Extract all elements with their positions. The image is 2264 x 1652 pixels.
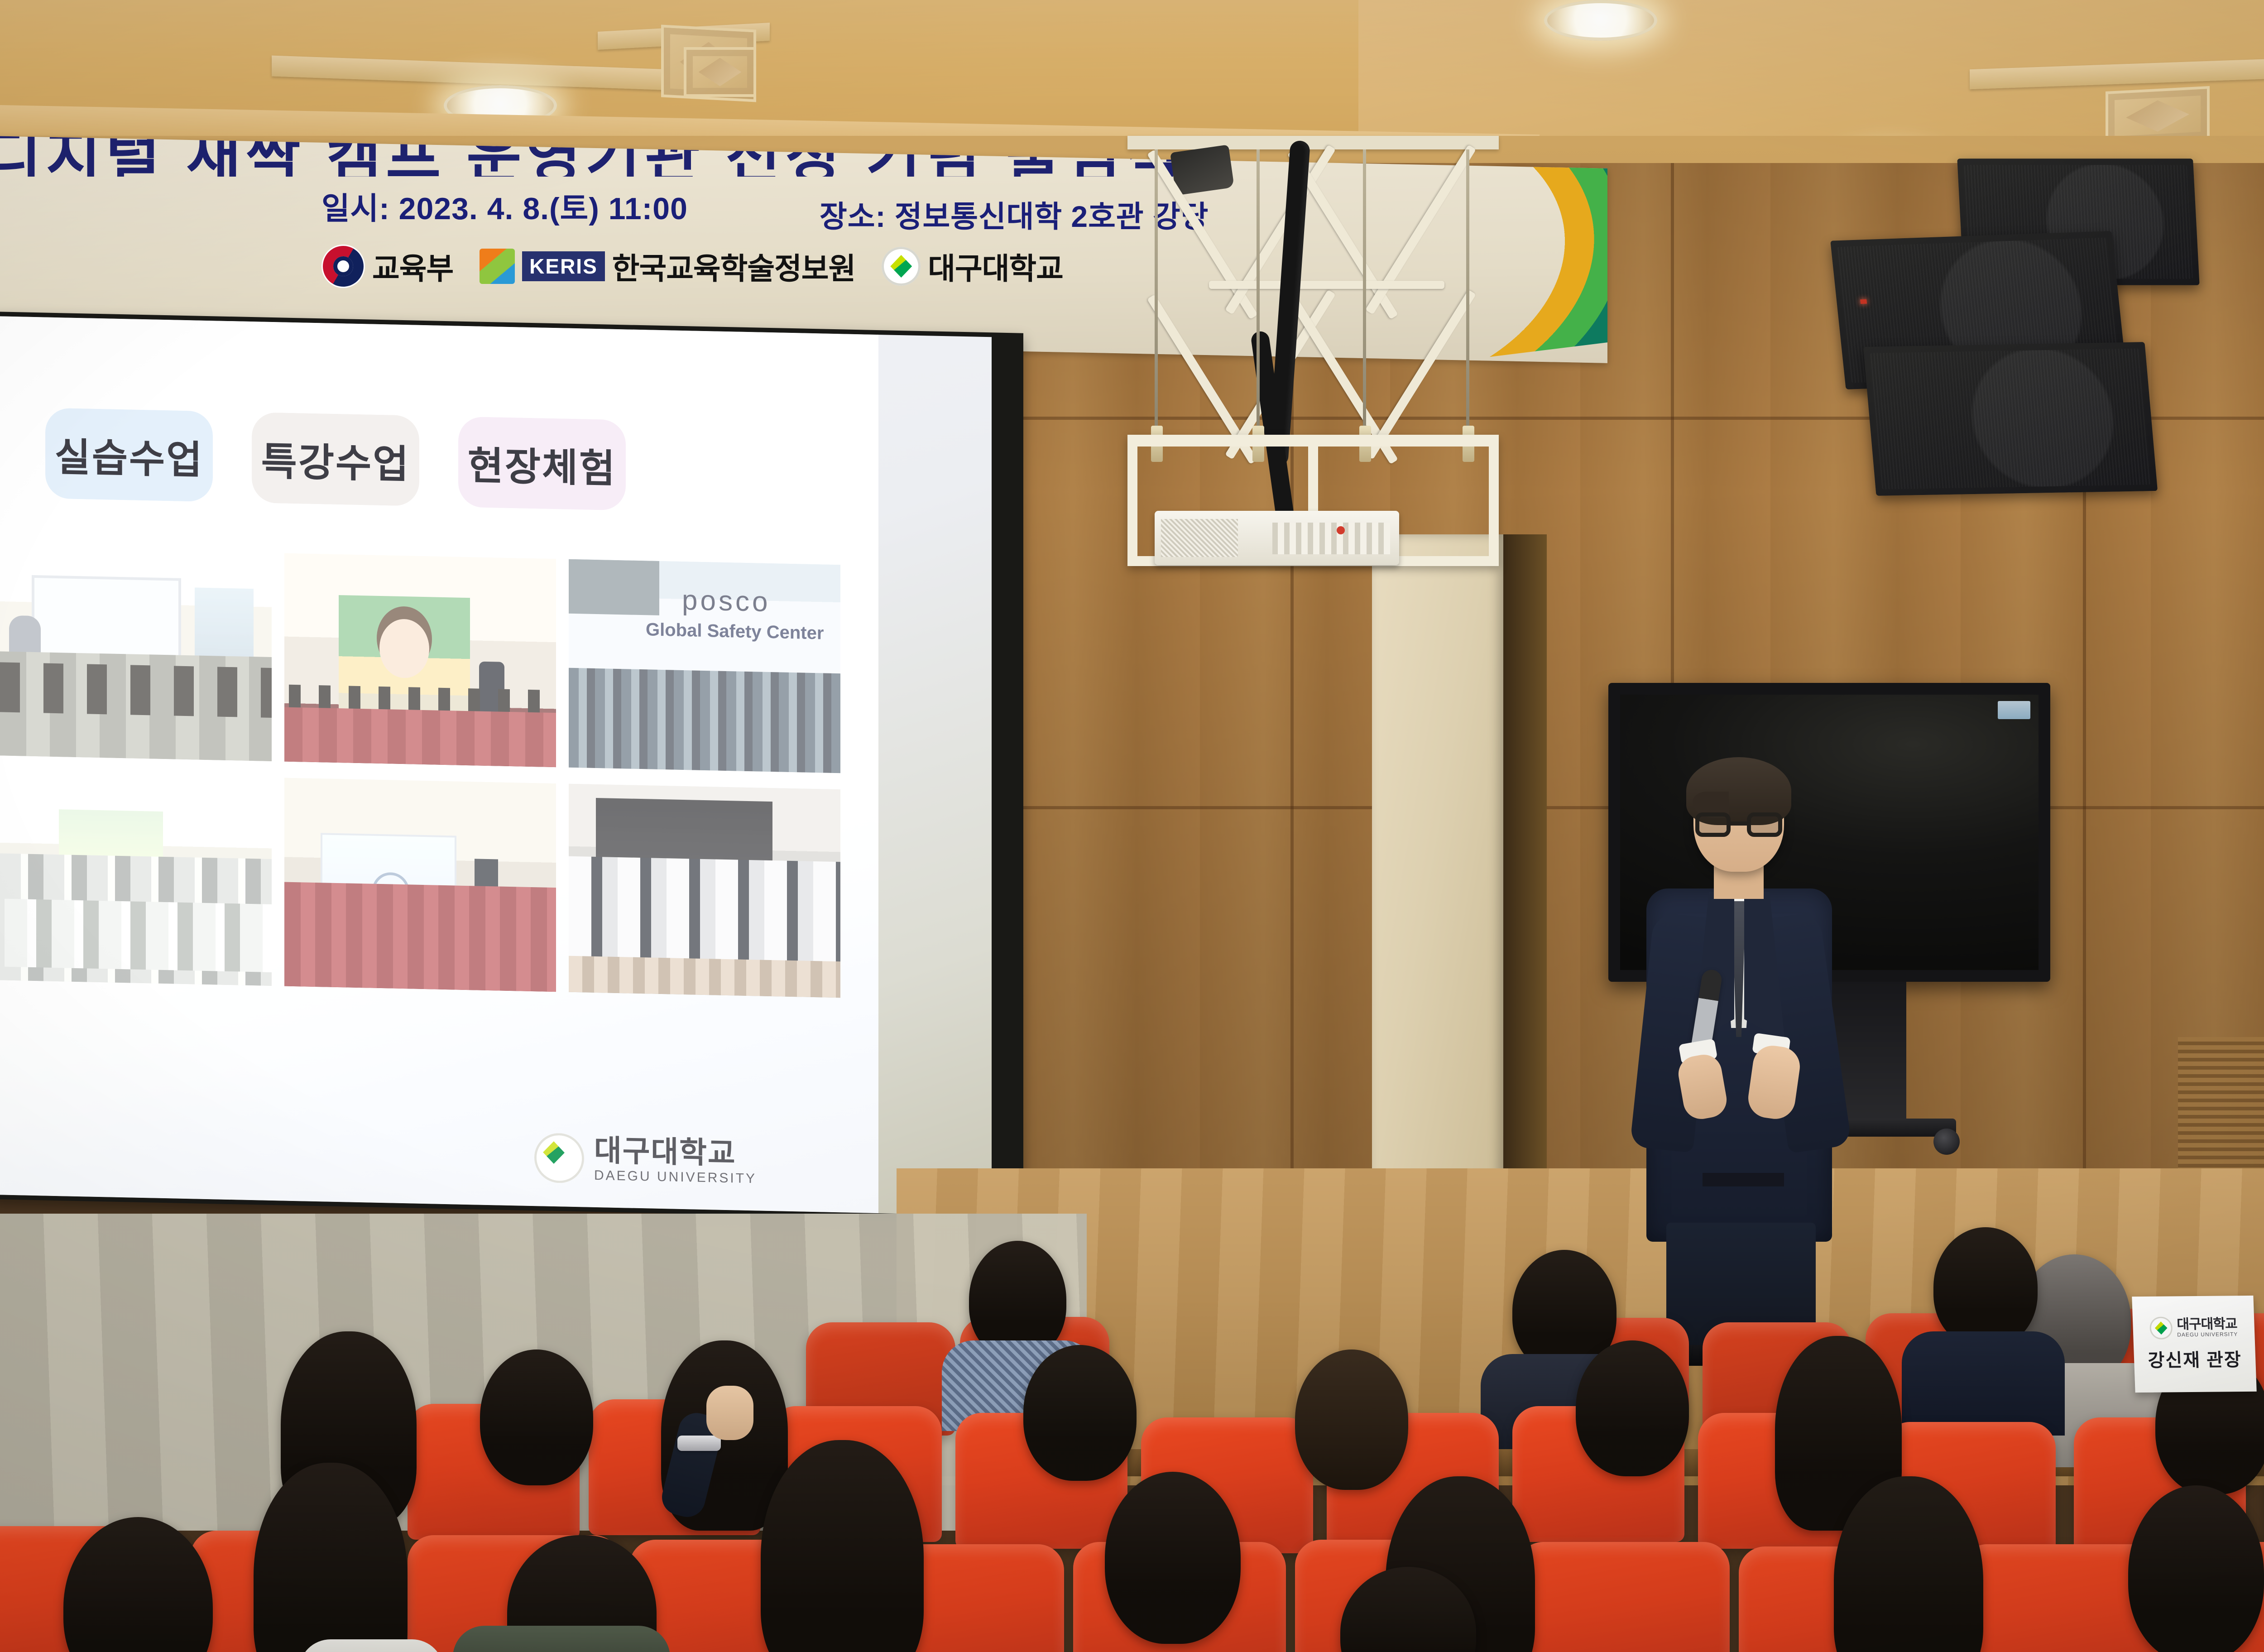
slide-photo-students-seated (569, 784, 840, 998)
display-brand-badge (1998, 701, 2030, 719)
ceiling-air-vent-right (684, 47, 756, 97)
sponsor-daegu-university: 대구대학교 (882, 245, 1063, 288)
stage-door-gap (1503, 534, 1547, 1223)
projection-screen-surface: 실습수업 특강수업 현장체험 posco (0, 316, 992, 1215)
seat-nameplate: 대구대학교 DAEGU UNIVERSITY 강신재 관장 (2132, 1296, 2256, 1393)
projection-screen-frame: 실습수업 특강수업 현장체험 posco (0, 312, 1023, 1221)
sponsor-moe-label: 교육부 (372, 245, 453, 288)
audience-area (0, 1159, 2264, 1652)
keris-abbrev-label: KERIS (522, 251, 605, 281)
lift-wire-4 (1466, 149, 1469, 430)
scissor-arms (1146, 145, 1481, 462)
slide-pill-practice: 실습수업 (45, 408, 213, 502)
audience-shoulders (299, 1639, 444, 1652)
projector-vent (1161, 519, 1238, 557)
audience-raised-hand (706, 1386, 753, 1440)
sponsor-keris-label: 한국교육학술정보원 (612, 245, 855, 288)
audience-head (1105, 1472, 1241, 1644)
lift-wire-1 (1155, 149, 1158, 430)
slide-category-pills: 실습수업 특강수업 현장체험 (0, 407, 878, 516)
stage-side-door[interactable] (1372, 534, 1503, 1241)
glasses-icon (1695, 812, 1782, 838)
daegu-university-seal-icon (882, 247, 921, 286)
nameplate-name: 강신재 관장 (2148, 1345, 2242, 1372)
lift-wire-2 (1257, 149, 1260, 430)
nameplate-org-en: DAEGU UNIVERSITY (2177, 1331, 2238, 1338)
slide-photo-computer-lab (0, 772, 272, 986)
taegeuk-icon (321, 245, 365, 288)
lift-wire-3 (1363, 149, 1366, 430)
slide-photo-lecture-hall (284, 553, 556, 768)
posco-wordmark: posco (682, 584, 770, 618)
slide-photo-posco-group: posco Global Safety Center (569, 559, 840, 773)
slide-photo-classroom (0, 547, 272, 761)
seat[interactable] (1517, 1542, 1730, 1652)
sponsor-keris: KERIS 한국교육학술정보원 (480, 245, 855, 288)
posco-global-safety-center-label: Global Safety Center (646, 619, 824, 644)
slide-pill-lecture: 특강수업 (252, 412, 419, 506)
projector-power-indicator (1337, 526, 1345, 534)
nameplate-org-ko: 대구대학교 (2177, 1317, 2238, 1331)
banner-sponsor-logos: 교육부 KERIS 한국교육학술정보원 대구대학교 (321, 245, 1063, 288)
audience-head (1933, 1227, 2038, 1347)
sponsor-du-label: 대구대학교 (928, 245, 1063, 288)
audience-shoulders (1902, 1331, 2065, 1436)
audience-head (1576, 1340, 1689, 1476)
audience-shoulders (453, 1626, 670, 1652)
audience-head (2128, 1485, 2264, 1652)
audience-head (761, 1440, 924, 1652)
projector-ports (1272, 523, 1390, 554)
slide-photo-auditorium (284, 778, 556, 992)
ceiling-light-center (1544, 0, 1657, 41)
wristwatch-icon (677, 1436, 721, 1451)
ceiling-projector (1155, 511, 1399, 565)
sponsor-moe: 교육부 (321, 245, 453, 288)
auditorium-scene: 디지털 새싹 캠프 운영기관 선정 기념 출범식 일시: 2023. 4. 8.… (0, 0, 2264, 1652)
projector-scissor-lift (1127, 136, 1499, 566)
audience-head (1295, 1349, 1408, 1490)
wall-speaker-lower (1863, 342, 2158, 496)
audience-head (1023, 1345, 1137, 1481)
display-caster-right (1933, 1129, 1960, 1155)
speaker-led-icon (1860, 299, 1867, 304)
keris-icon (480, 249, 515, 284)
presentation-slide: 실습수업 특강수업 현장체험 posco (0, 316, 878, 1213)
audience-head (480, 1349, 593, 1485)
slide-pill-field-experience: 현장체험 (458, 417, 626, 511)
banner-date: 일시: 2023. 4. 8.(토) 11:00 (321, 183, 688, 228)
slide-photo-grid: posco Global Safety Center (0, 547, 878, 999)
daegu-university-seal-icon-nameplate (2149, 1316, 2173, 1339)
